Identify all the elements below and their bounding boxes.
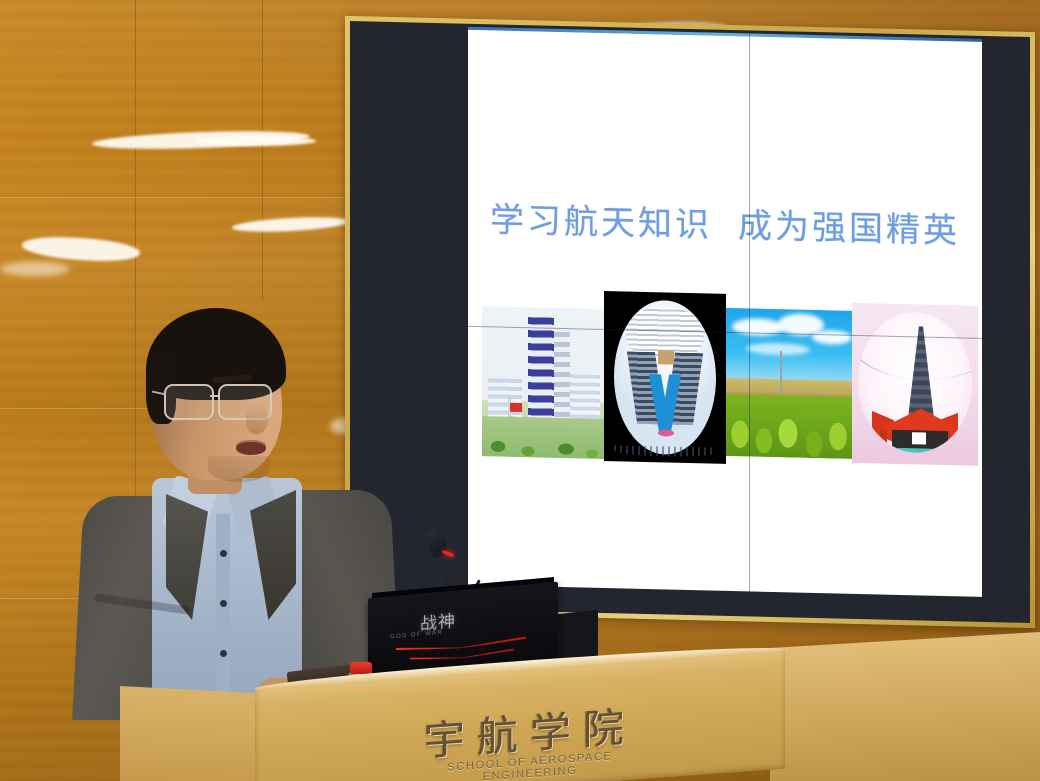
water-bottle-cap	[350, 662, 372, 674]
podium-side-left	[120, 686, 270, 781]
laptop-brand-sublabel: GOD OF WAR	[390, 630, 443, 641]
wall-reflection	[196, 136, 316, 146]
slide-title-part1: 学习航天知识	[490, 200, 712, 245]
podium-side-right	[770, 632, 1040, 781]
wall-seam	[0, 197, 345, 198]
speaker-figure	[60, 300, 400, 720]
wall-seam	[262, 0, 263, 300]
nose	[246, 404, 268, 434]
shirt-button	[220, 600, 227, 607]
chin-shading	[208, 456, 270, 482]
presentation-scene: 学习航天知识成为强国精英	[0, 0, 1040, 781]
shirt-button	[220, 550, 227, 557]
mouth	[236, 442, 266, 455]
shirt-button	[220, 650, 227, 657]
slide-title: 学习航天知识成为强国精英	[468, 192, 982, 253]
slide-title-part2: 成为强国精英	[738, 206, 960, 251]
green-field-photo	[726, 308, 852, 459]
shirt-placket	[216, 514, 230, 720]
fisheye-auditorium-photo	[604, 291, 726, 464]
slide-photo-strip	[482, 288, 982, 470]
wall-reflection	[0, 262, 70, 276]
fisheye-pagoda-photo	[852, 303, 978, 466]
video-wall-seam	[749, 30, 750, 616]
presentation-slide: 学习航天知识成为强国精英	[468, 30, 982, 597]
video-wall-panel[interactable]: 学习航天知识成为强国精英	[350, 21, 1030, 623]
video-wall-frame: 学习航天知识成为强国精英	[345, 16, 1035, 628]
